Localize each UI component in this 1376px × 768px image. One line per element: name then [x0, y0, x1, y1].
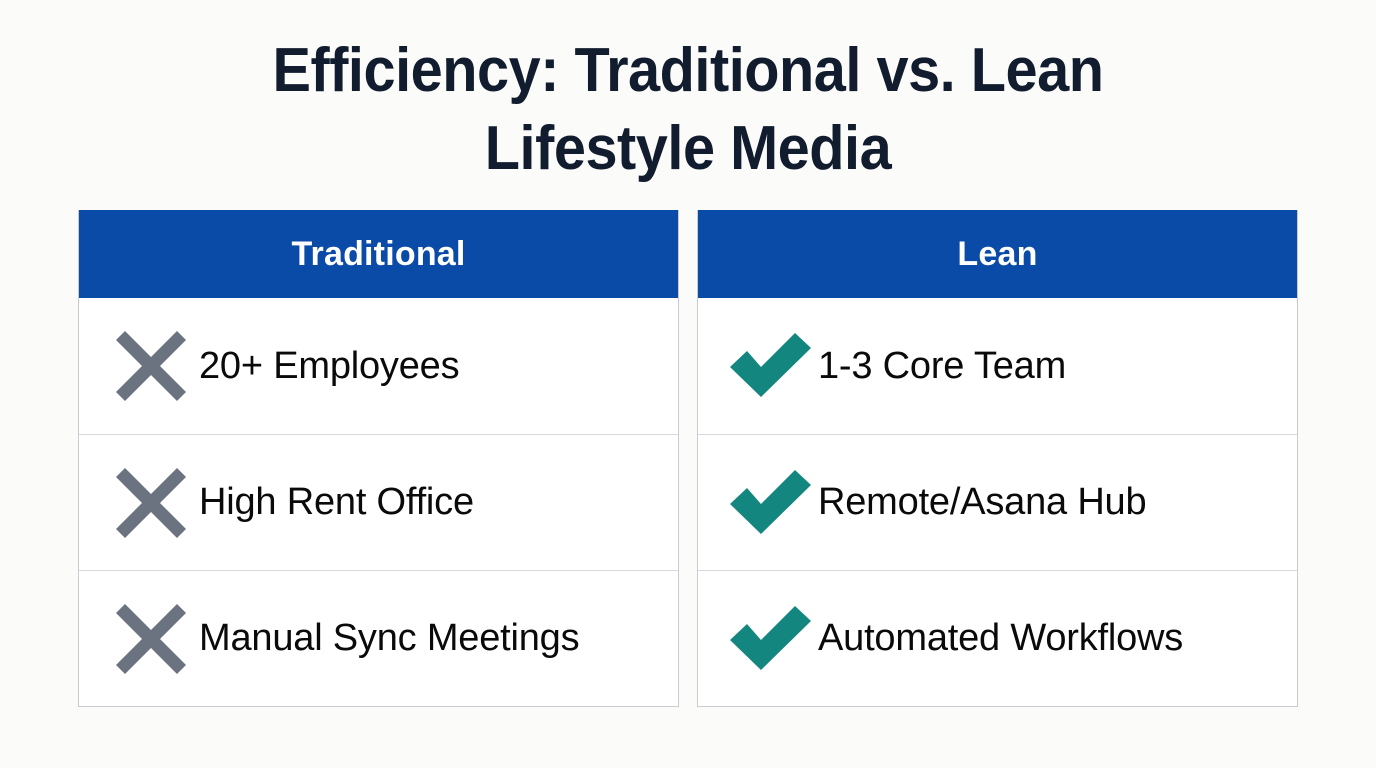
table-row: High Rent Office — [79, 434, 678, 570]
table-row: 20+ Employees — [79, 298, 678, 434]
table-header-lean: Lean — [698, 210, 1297, 298]
row-label: Automated Workflows — [818, 617, 1183, 660]
check-icon — [722, 331, 818, 401]
table-row: 1-3 Core Team — [698, 298, 1297, 434]
table-header-label: Lean — [957, 235, 1037, 274]
table-traditional: Traditional 20+ Employees High Rent Offi… — [78, 210, 679, 707]
table-row: Manual Sync Meetings — [79, 570, 678, 706]
row-label: Remote/Asana Hub — [818, 481, 1146, 524]
check-icon — [722, 468, 818, 538]
check-icon — [722, 604, 818, 674]
cross-icon — [103, 602, 199, 676]
table-header-label: Traditional — [291, 235, 465, 274]
table-row: Automated Workflows — [698, 570, 1297, 706]
row-label: Manual Sync Meetings — [199, 617, 579, 660]
row-label: 20+ Employees — [199, 345, 459, 388]
row-label: 1-3 Core Team — [818, 345, 1066, 388]
comparison-slide: Efficiency: Traditional vs. Lean Lifesty… — [0, 0, 1376, 768]
page-title: Efficiency: Traditional vs. Lean Lifesty… — [178, 32, 1197, 188]
table-header-traditional: Traditional — [79, 210, 678, 298]
cross-icon — [103, 466, 199, 540]
cross-icon — [103, 329, 199, 403]
table-row: Remote/Asana Hub — [698, 434, 1297, 570]
row-label: High Rent Office — [199, 481, 474, 524]
table-lean: Lean 1-3 Core Team Remote/Asana Hub — [697, 210, 1298, 707]
comparison-tables: Traditional 20+ Employees High Rent Offi… — [78, 210, 1298, 707]
